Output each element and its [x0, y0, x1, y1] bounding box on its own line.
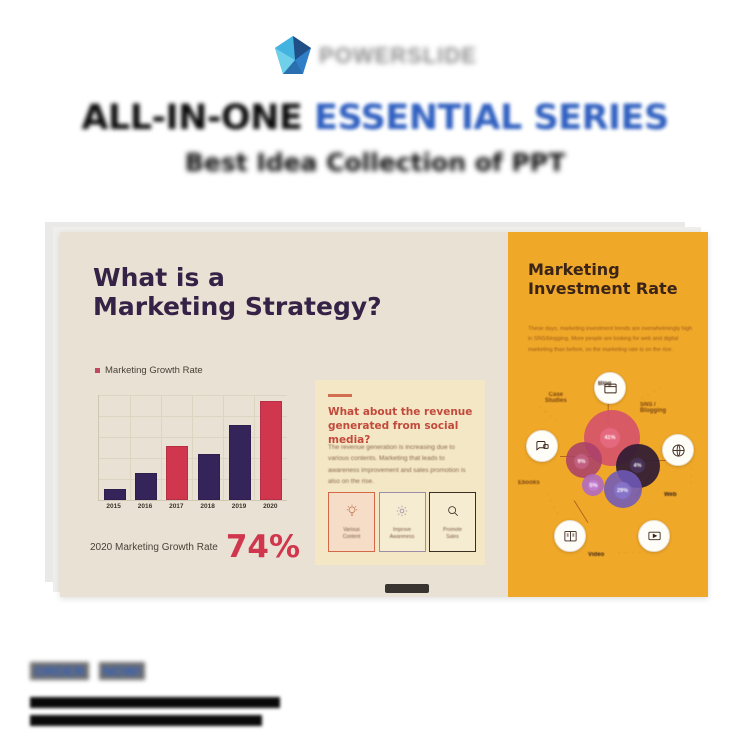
label-blog: Blog	[598, 381, 611, 387]
right-panel-body: These days, marketing investment trends …	[528, 324, 694, 355]
label-ebooks: Ebooks	[518, 480, 540, 486]
growth-summary: 2020 Marketing Growth Rate 74%	[90, 532, 330, 563]
bubble-value: 29%	[614, 482, 631, 499]
brand-row: POWERSLIDE	[0, 30, 750, 82]
mini-card-improve-awareness[interactable]: Improve Awareness	[379, 492, 426, 552]
bar-2016	[135, 395, 157, 500]
revenue-mini-cards: Various Content Improve Awareness	[328, 492, 476, 550]
bubble-value: 9%	[574, 454, 589, 469]
footer-text-line-2	[30, 715, 262, 726]
order-button[interactable]: ORDER	[30, 662, 89, 680]
right-panel-title: Marketing Investment Rate	[528, 260, 700, 298]
dotted-connector: · · · ·	[687, 461, 693, 486]
label-case-studies: Case Studies	[545, 392, 567, 404]
node-video[interactable]	[638, 520, 670, 552]
growth-summary-label: 2020 Marketing Growth Rate	[90, 542, 218, 553]
slide-preview-stage: What is a Marketing Strategy? Marketing …	[45, 222, 710, 597]
dotted-connector: · · · ·	[537, 405, 560, 425]
slide-left-panel: What is a Marketing Strategy? Marketing …	[60, 232, 508, 597]
chart-x-axis-labels: 2015 2016 2017 2018 2019 2020	[98, 503, 286, 510]
brand-name: POWERSLIDE	[319, 43, 477, 69]
growth-bar-chart	[98, 395, 287, 501]
label-sns-blogging: SNS / Blogging	[640, 402, 666, 414]
legend-marker-icon	[95, 368, 100, 373]
slide-right-panel: Marketing Investment Rate These days, ma…	[508, 232, 708, 597]
bar-2017	[166, 395, 188, 500]
x-label: 2018	[197, 503, 219, 510]
magnifier-icon	[446, 504, 460, 523]
growth-summary-value: 74%	[226, 532, 300, 563]
x-label: 2017	[165, 503, 187, 510]
node-case-studies[interactable]	[526, 430, 558, 462]
gear-icon	[395, 504, 409, 523]
mini-card-various-content[interactable]: Various Content	[328, 492, 375, 552]
page-subheadline: Best Idea Collection of PPT	[0, 148, 750, 177]
bar-2019	[229, 395, 251, 500]
mini-card-label: Promote Sales	[443, 527, 462, 540]
node-ebooks[interactable]	[554, 520, 586, 552]
slide-canvas[interactable]: What is a Marketing Strategy? Marketing …	[60, 232, 708, 597]
bar-2018	[198, 395, 220, 500]
mini-card-promote-sales[interactable]: Promote Sales	[429, 492, 476, 552]
dotted-connector: · · · ·	[618, 550, 643, 556]
device-notch	[385, 584, 429, 593]
prism-logo-icon	[273, 34, 313, 78]
x-label: 2020	[259, 503, 281, 510]
headline-blue: ESSENTIAL SERIES	[314, 98, 669, 138]
chart-legend: Marketing Growth Rate	[95, 365, 203, 376]
bubble-value: 4%	[630, 458, 645, 473]
bubble-value: 5%	[588, 480, 599, 491]
bar-series	[99, 395, 287, 500]
mini-card-label: Various Content	[343, 527, 361, 540]
revenue-card-body: The revenue generation is increasing due…	[328, 442, 476, 488]
rule-divider	[328, 394, 352, 397]
x-label: 2015	[103, 503, 125, 510]
lightbulb-icon	[345, 504, 359, 523]
label-video: Video	[588, 552, 604, 558]
page-headline: ALL-IN-ONE ESSENTIAL SERIES	[0, 98, 750, 138]
chart-legend-label: Marketing Growth Rate	[105, 365, 203, 376]
dotted-connector: · · · ·	[640, 384, 665, 402]
mini-card-label: Improve Awareness	[390, 527, 415, 540]
slide-title: What is a Marketing Strategy?	[93, 264, 382, 321]
label-web: Web	[664, 492, 677, 498]
cta-row[interactable]: ORDER NOW!	[30, 662, 145, 680]
x-label: 2019	[228, 503, 250, 510]
bar-2020	[260, 395, 282, 500]
headline-black: ALL-IN-ONE	[81, 98, 314, 138]
x-label: 2016	[134, 503, 156, 510]
footer-text-line-1	[30, 697, 280, 708]
dotted-connector: · · · ·	[544, 493, 561, 518]
bar-2015	[104, 395, 126, 500]
revenue-callout-card: What about the revenue generated from so…	[315, 380, 485, 565]
investment-bubble-diagram: 41% 9% 5% 4% 29%	[512, 372, 704, 567]
bubble-value: 41%	[600, 428, 620, 448]
now-button[interactable]: NOW!	[99, 662, 146, 680]
node-blog[interactable]	[594, 372, 626, 404]
